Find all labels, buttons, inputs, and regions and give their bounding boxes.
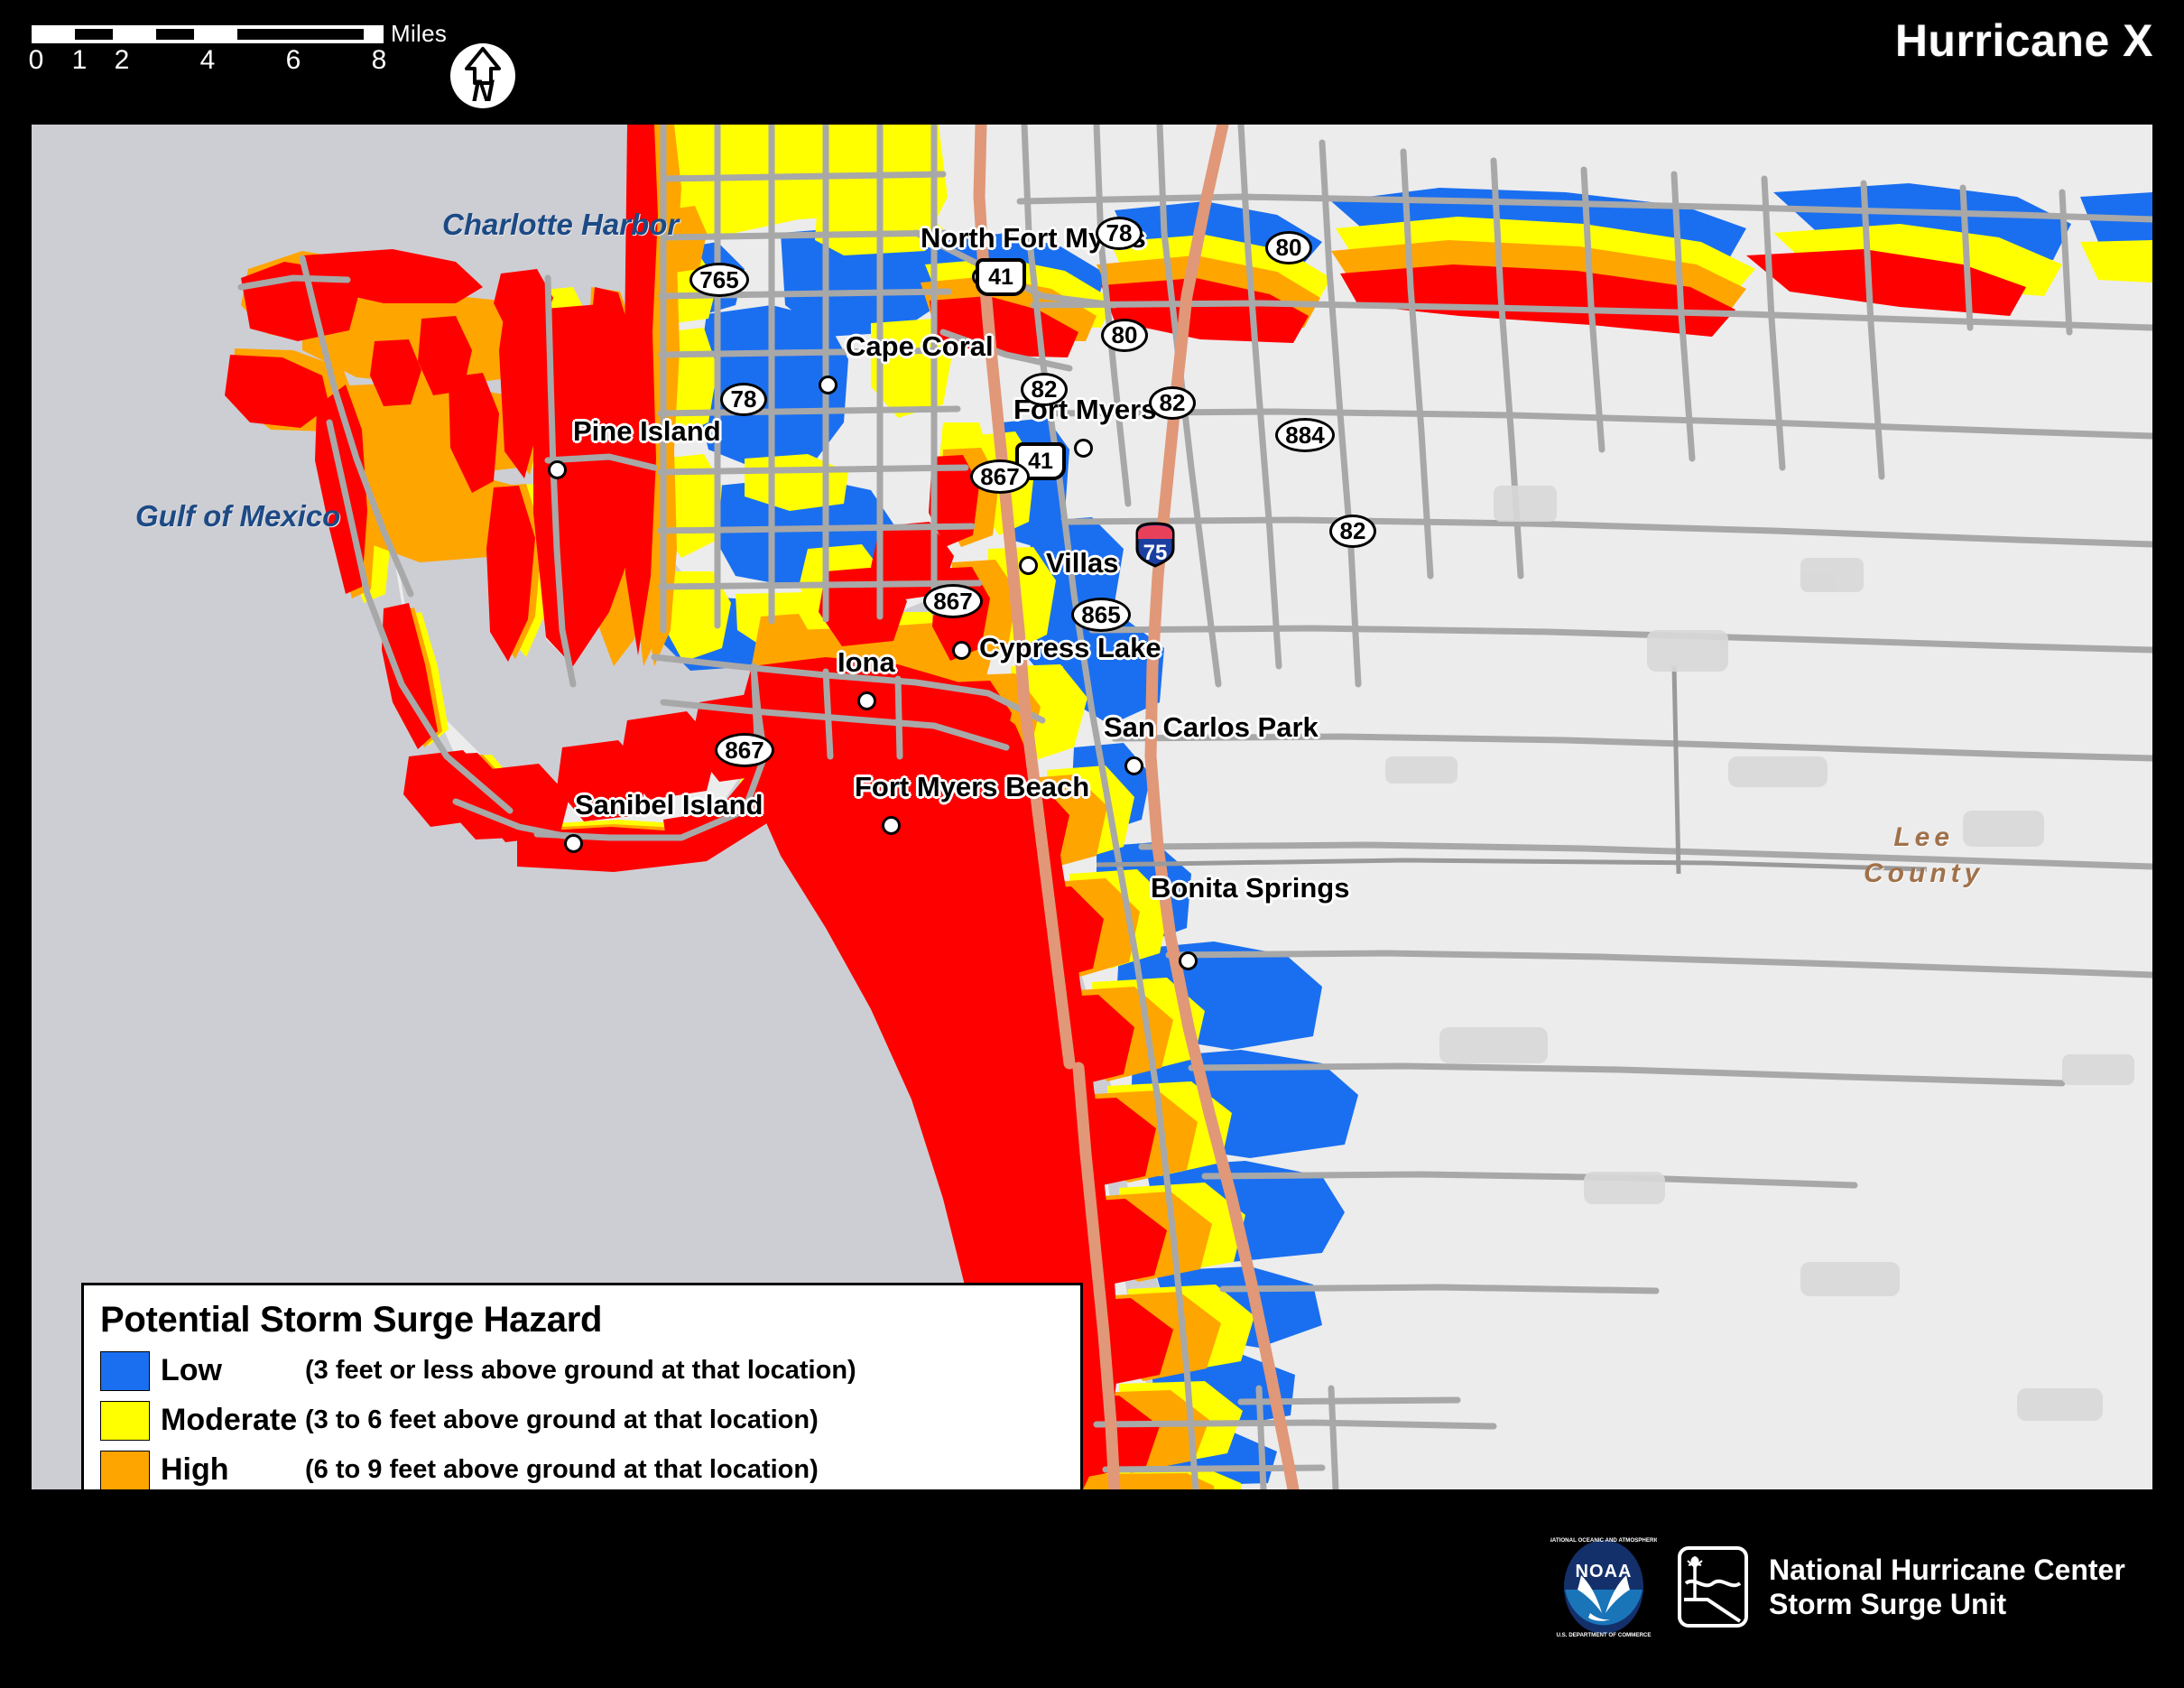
route-shield-865[interactable]: 865: [1071, 598, 1131, 632]
city-dot-bonita-springs[interactable]: [1179, 951, 1198, 970]
scale-tick-6: 6: [281, 45, 306, 76]
scale-tick-8: 8: [366, 45, 392, 76]
footer-branding: NOAA NATIONAL OCEANIC AND ATMOSPHERIC U.…: [1550, 1526, 2146, 1647]
city-dot-fort-myers[interactable]: [1074, 439, 1093, 458]
north-arrow-icon: N: [449, 42, 517, 110]
legend-name-high: High: [161, 1452, 305, 1488]
route-shield-78-north[interactable]: 78: [1096, 217, 1143, 250]
city-dot-villas[interactable]: [1019, 556, 1038, 575]
scale-bar: Miles 0 1 2 4 6 8: [32, 25, 447, 88]
city-dot-sanibel-island[interactable]: [564, 834, 583, 853]
scale-bar-labels: 0 1 2 4 6 8: [23, 45, 403, 74]
route-shield-867-north[interactable]: 867: [970, 459, 1030, 494]
route-shield-i75-label: 75: [1131, 541, 1180, 566]
route-shield-867-central[interactable]: 867: [923, 584, 983, 618]
scale-tick-1: 1: [67, 45, 92, 76]
route-shield-us41-north[interactable]: 41: [976, 258, 1026, 296]
route-shield-78-west[interactable]: 78: [720, 383, 767, 416]
legend-desc-low: (3 feet or less above ground at that loc…: [305, 1356, 856, 1386]
legend-heading: Potential Storm Surge Hazard: [100, 1300, 1080, 1340]
route-shield-867-south[interactable]: 867: [715, 733, 774, 767]
city-dot-fort-myers-beach[interactable]: [882, 816, 901, 835]
scale-tick-2: 2: [109, 45, 134, 76]
scale-bar-track: [32, 25, 384, 43]
scale-tick-4: 4: [195, 45, 220, 76]
legend-swatch-moderate: [100, 1401, 150, 1441]
legend-swatch-low: [100, 1351, 150, 1391]
scale-bar-units: Miles: [391, 20, 447, 48]
legend-row-low: Low (3 feet or less above ground at that…: [100, 1346, 1080, 1396]
svg-text:NOAA: NOAA: [1576, 1562, 1633, 1581]
city-dot-san-carlos-park[interactable]: [1124, 756, 1143, 775]
footer-line-1: National Hurricane Center: [1769, 1553, 2125, 1587]
route-shield-i75[interactable]: 75: [1131, 520, 1180, 569]
city-dot-cypress-lake[interactable]: [952, 641, 971, 660]
route-shield-82-west[interactable]: 82: [1021, 373, 1068, 406]
route-shield-80-east[interactable]: 80: [1101, 319, 1148, 352]
legend-desc-moderate: (3 to 6 feet above ground at that locati…: [305, 1405, 819, 1435]
svg-text:N: N: [472, 74, 495, 108]
noaa-seal-icon: NOAA NATIONAL OCEANIC AND ATMOSPHERIC U.…: [1550, 1534, 1657, 1640]
city-dot-iona[interactable]: [857, 691, 876, 710]
page-title: Hurricane X: [1895, 14, 2153, 67]
footer-text: National Hurricane Center Storm Surge Un…: [1769, 1553, 2125, 1621]
svg-text:NATIONAL OCEANIC AND ATMOSPHER: NATIONAL OCEANIC AND ATMOSPHERIC: [1550, 1537, 1657, 1544]
nhc-storm-surge-icon: [1677, 1545, 1749, 1628]
footer-line-2: Storm Surge Unit: [1769, 1587, 2125, 1621]
legend-panel: Potential Storm Surge Hazard Low (3 feet…: [81, 1283, 1083, 1489]
svg-text:U.S. DEPARTMENT OF COMMERCE: U.S. DEPARTMENT OF COMMERCE: [1556, 1632, 1651, 1638]
scale-tick-0: 0: [23, 45, 49, 76]
route-shield-884[interactable]: 884: [1275, 418, 1335, 452]
map-canvas[interactable]: Charlotte Harbor Gulf of Mexico Lee Coun…: [32, 125, 2152, 1489]
route-shield-80-north[interactable]: 80: [1265, 231, 1312, 264]
legend-desc-high: (6 to 9 feet above ground at that locati…: [305, 1455, 819, 1485]
legend-row-moderate: Moderate (3 to 6 feet above ground at th…: [100, 1396, 1080, 1445]
legend-swatch-high: [100, 1451, 150, 1490]
legend-name-moderate: Moderate: [161, 1403, 305, 1438]
city-dot-pine-island[interactable]: [548, 460, 567, 479]
storm-surge-map-page: Miles 0 1 2 4 6 8 N Hurricane X: [0, 0, 2184, 1688]
route-shield-82-far-east[interactable]: 82: [1329, 515, 1376, 548]
legend-row-high: High (6 to 9 feet above ground at that l…: [100, 1445, 1080, 1489]
route-shield-765[interactable]: 765: [689, 263, 749, 297]
route-shield-82-east[interactable]: 82: [1149, 386, 1196, 420]
city-dot-cape-coral[interactable]: [819, 376, 838, 394]
legend-name-low: Low: [161, 1353, 305, 1388]
